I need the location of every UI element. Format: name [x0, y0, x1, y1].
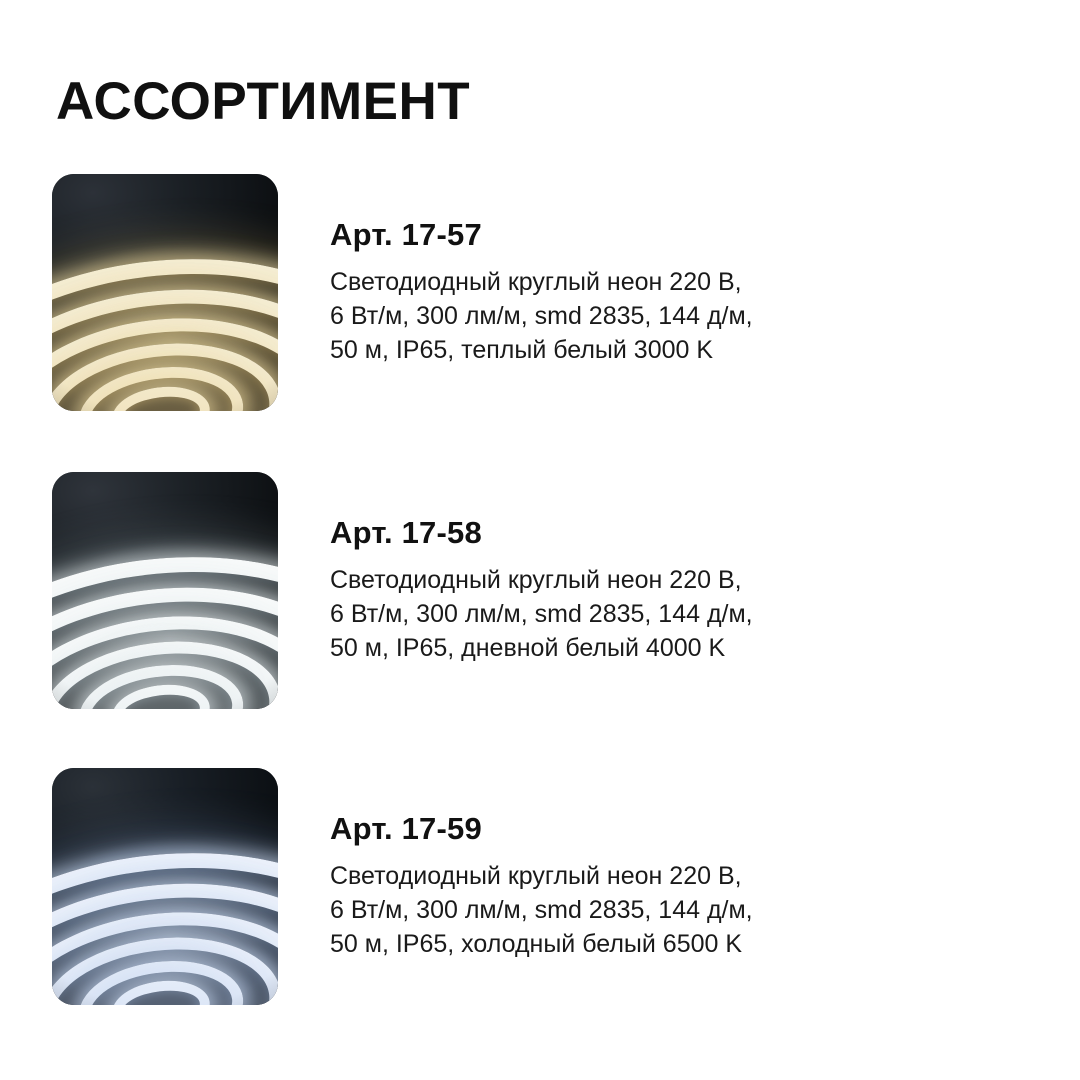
description-line: Светодиодный круглый неон 220 В,	[330, 859, 930, 893]
description-line: 6 Вт/м, 300 лм/м, smd 2835, 144 д/м,	[330, 299, 930, 333]
product-image-cool-white[interactable]	[52, 768, 278, 1005]
description-line: 50 м, IP65, теплый белый 3000 K	[330, 333, 930, 367]
product-image-warm-white[interactable]	[52, 174, 278, 411]
thumb-inner	[52, 174, 278, 411]
product-art-code: Арт. 17-57	[330, 218, 930, 252]
description-line: 6 Вт/м, 300 лм/м, smd 2835, 144 д/м,	[330, 597, 930, 631]
thumb-inner	[52, 472, 278, 709]
product-item-17-58[interactable]: Арт. 17-58 Светодиодный круглый неон 220…	[52, 472, 1032, 709]
product-item-17-57[interactable]: Арт. 17-57 Светодиодный круглый неон 220…	[52, 174, 1032, 411]
description-line: Светодиодный круглый неон 220 В,	[330, 265, 930, 299]
product-info: Арт. 17-58 Светодиодный круглый неон 220…	[330, 472, 930, 709]
description-line: 6 Вт/м, 300 лм/м, smd 2835, 144 д/м,	[330, 893, 930, 927]
product-art-code: Арт. 17-58	[330, 516, 930, 550]
product-art-code: Арт. 17-59	[330, 812, 930, 846]
product-description: Светодиодный круглый неон 220 В, 6 Вт/м,…	[330, 265, 930, 367]
thumb-inner	[52, 768, 278, 1005]
product-description: Светодиодный круглый неон 220 В, 6 Вт/м,…	[330, 563, 930, 665]
product-info: Арт. 17-57 Светодиодный круглый неон 220…	[330, 174, 930, 411]
product-description: Светодиодный круглый неон 220 В, 6 Вт/м,…	[330, 859, 930, 961]
assortment-page: АССОРТИМЕНТ	[0, 0, 1080, 1080]
product-image-daylight-white[interactable]	[52, 472, 278, 709]
description-line: 50 м, IP65, холодный белый 6500 K	[330, 927, 930, 961]
page-title: АССОРТИМЕНТ	[56, 75, 470, 128]
product-item-17-59[interactable]: Арт. 17-59 Светодиодный круглый неон 220…	[52, 768, 1032, 1005]
description-line: 50 м, IP65, дневной белый 4000 K	[330, 631, 930, 665]
description-line: Светодиодный круглый неон 220 В,	[330, 563, 930, 597]
product-info: Арт. 17-59 Светодиодный круглый неон 220…	[330, 768, 930, 1005]
